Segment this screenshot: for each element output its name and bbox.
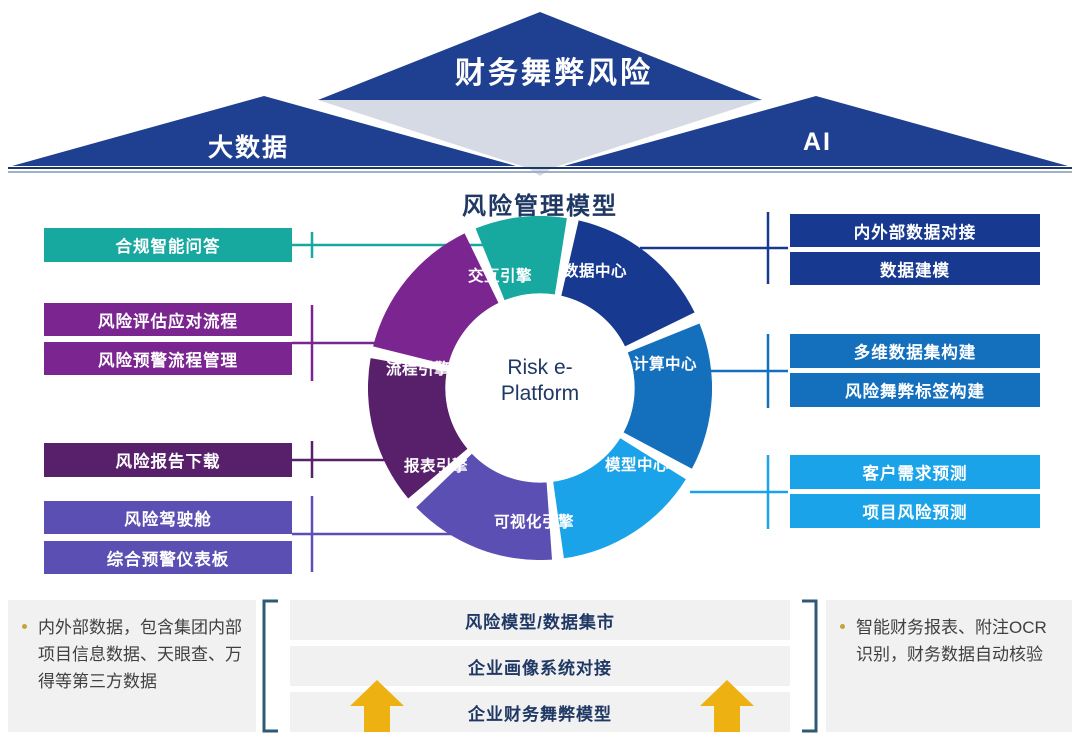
donut-label-report-engine: 报表引擎 <box>404 454 468 476</box>
bottom-right-text: 智能财务报表、附注OCR识别，财务数据自动核验 <box>856 618 1047 664</box>
up-arrow-icon-left <box>348 678 406 734</box>
donut-center-label: Risk e-Platform <box>472 355 608 407</box>
bottom-left-textblock: 内外部数据，包含集团内部项目信息数据、天眼查、万得等第三方数据 <box>8 600 256 732</box>
bottom-left-text: 内外部数据，包含集团内部项目信息数据、天眼查、万得等第三方数据 <box>38 618 242 691</box>
left-box-risk-warning-process[interactable]: 风险预警流程管理 <box>44 342 292 375</box>
bullet-icon-left <box>22 624 27 629</box>
donut-label-model-center: 模型中心 <box>605 453 669 475</box>
donut-label-compute-center: 计算中心 <box>633 352 697 374</box>
diagram-canvas: 财务舞弊风险 大数据 AI 风险管理模型 <box>0 0 1080 736</box>
right-box-risk-fraud-tagging[interactable]: 风险舞弊标签构建 <box>790 373 1040 407</box>
connector-left-4-bracket <box>292 496 312 572</box>
connector-left-2-bracket <box>292 305 312 381</box>
bottom-left-bracket <box>258 598 284 734</box>
donut-label-process-engine: 流程引擎 <box>386 357 450 379</box>
left-box-compliance-qa[interactable]: 合规智能问答 <box>44 228 292 262</box>
right-box-internal-external-data-integration[interactable]: 内外部数据对接 <box>790 214 1040 247</box>
bottom-right-textblock: 智能财务报表、附注OCR识别，财务数据自动核验 <box>826 600 1072 732</box>
connector-right-3-bracket <box>768 455 788 529</box>
connector-left-3-bracket <box>292 441 312 478</box>
connector-left-1-bracket <box>292 232 312 258</box>
donut-label-data-center: 数据中心 <box>563 259 627 281</box>
bullet-icon-right <box>840 624 845 629</box>
bottom-right-bracket <box>796 598 822 734</box>
up-arrow-icon-right <box>698 678 756 734</box>
connector-right-1-bracket <box>768 212 788 284</box>
bottom-panel: 内外部数据，包含集团内部项目信息数据、天眼查、万得等第三方数据 风险模型/数据集… <box>0 596 1080 736</box>
right-box-project-risk-forecast[interactable]: 项目风险预测 <box>790 494 1040 528</box>
left-box-risk-cockpit[interactable]: 风险驾驶舱 <box>44 501 292 534</box>
right-box-data-modeling[interactable]: 数据建模 <box>790 252 1040 285</box>
donut-label-visualization-engine: 可视化引擎 <box>494 510 574 532</box>
connector-right-2-bracket <box>768 334 788 408</box>
donut-label-interactive-engine: 交互引擎 <box>468 264 532 286</box>
right-box-customer-demand-forecast[interactable]: 客户需求预测 <box>790 455 1040 489</box>
left-box-risk-assessment-process[interactable]: 风险评估应对流程 <box>44 303 292 336</box>
bottom-center-row-risk-model[interactable]: 风险模型/数据集市 <box>290 600 790 640</box>
left-box-integrated-warning-dashboard[interactable]: 综合预警仪表板 <box>44 541 292 574</box>
right-box-multidimensional-dataset[interactable]: 多维数据集构建 <box>790 334 1040 368</box>
donut-segment-compute-center[interactable] <box>624 324 713 469</box>
left-box-risk-report-download[interactable]: 风险报告下载 <box>44 443 292 477</box>
